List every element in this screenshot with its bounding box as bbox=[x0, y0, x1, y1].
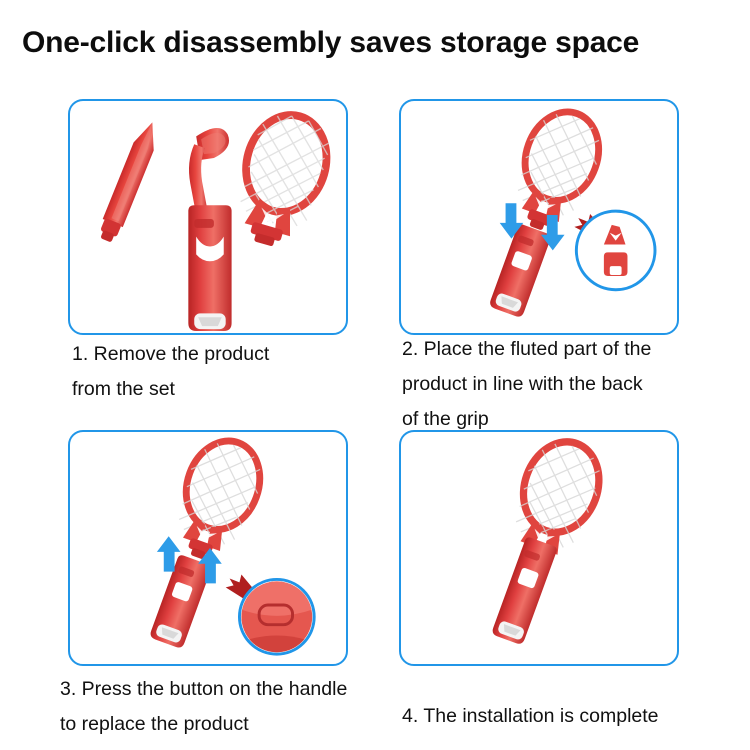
step-2-caption: 2. Place the fluted part of the product … bbox=[402, 332, 651, 437]
grip-handle bbox=[149, 554, 213, 649]
step-4-caption: 4. The installation is complete bbox=[402, 699, 659, 734]
tennis-racket-attachment bbox=[164, 432, 272, 569]
caption-line: 4. The installation is complete bbox=[402, 699, 659, 734]
step-3-caption: 3. Press the button on the handle to rep… bbox=[60, 672, 347, 742]
panel-press-button bbox=[68, 430, 348, 666]
detail-callout-circle bbox=[239, 579, 314, 654]
step-2-illustration bbox=[401, 101, 677, 333]
page-title: One-click disassembly saves storage spac… bbox=[22, 26, 732, 60]
caption-line: 3. Press the button on the handle bbox=[60, 672, 347, 707]
step-3-illustration bbox=[70, 432, 346, 664]
step-1-illustration bbox=[70, 101, 346, 333]
tennis-racket-attachment bbox=[505, 432, 611, 560]
caption-line: from the set bbox=[72, 372, 269, 407]
caption-line: product in line with the back bbox=[402, 367, 651, 402]
sword-attachment bbox=[96, 119, 164, 245]
panel-installation-complete bbox=[399, 430, 679, 666]
panel-align-fluted-part bbox=[399, 99, 679, 335]
caption-line: 1. Remove the product bbox=[72, 337, 269, 372]
step-1-caption: 1. Remove the product from the set bbox=[72, 337, 269, 407]
step-4-illustration bbox=[401, 432, 677, 664]
caption-line: to replace the product bbox=[60, 707, 347, 742]
grip-handle bbox=[488, 223, 552, 318]
caption-line: 2. Place the fluted part of the bbox=[402, 332, 651, 367]
tennis-racket-attachment bbox=[225, 105, 337, 254]
panel-remove-product bbox=[68, 99, 348, 335]
detail-callout-circle bbox=[576, 211, 655, 290]
grip-handle bbox=[491, 536, 558, 645]
grip-handle bbox=[188, 205, 231, 331]
